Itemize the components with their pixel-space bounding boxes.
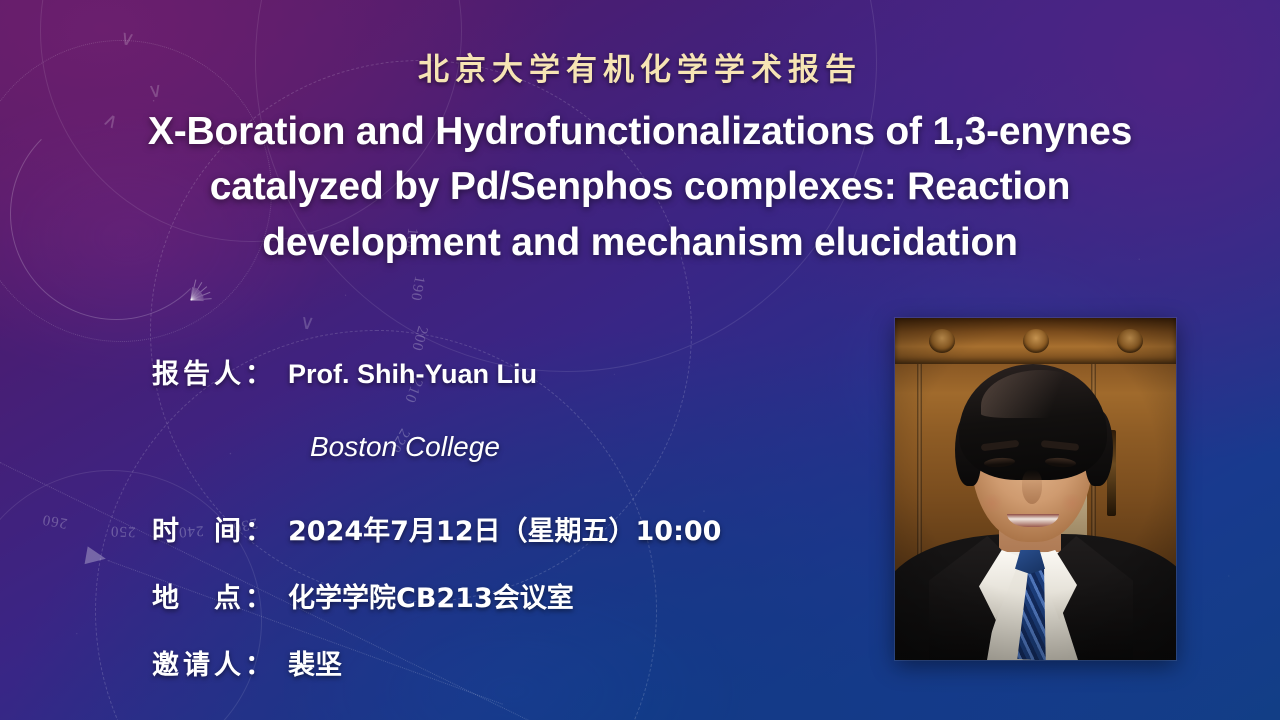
- time-value: 2024年7月12日（星期五）10:00: [288, 509, 721, 548]
- time-row: 时 间： 2024年7月12日（星期五）10:00: [152, 509, 872, 548]
- details-block: 报告人： Prof. Shih-Yuan Liu Boston College …: [152, 352, 872, 682]
- location-value: 化学学院CB213会议室: [288, 576, 574, 615]
- time-label: 时 间：: [152, 509, 276, 548]
- speaker-photo: [895, 318, 1176, 660]
- talk-title-line-3: development and mechanism elucidation: [38, 215, 1242, 270]
- speaker-name: Prof. Shih-Yuan Liu: [288, 359, 537, 390]
- location-label: 地 点：: [152, 576, 276, 615]
- seminar-poster: 180 190 200 210 220 230 240 250 260 ∨ ∨ …: [0, 0, 1280, 720]
- talk-title: X-Boration and Hydrofunctionalizations o…: [38, 104, 1242, 270]
- talk-title-line-2: catalyzed by Pd/Senphos complexes: React…: [38, 159, 1242, 214]
- location-row: 地 点： 化学学院CB213会议室: [152, 576, 872, 615]
- speaker-row: 报告人： Prof. Shih-Yuan Liu: [152, 352, 872, 391]
- host-value: 裴坚: [288, 643, 342, 682]
- photo-vignette: [895, 318, 1176, 660]
- talk-title-line-1: X-Boration and Hydrofunctionalizations o…: [38, 104, 1242, 159]
- organization-title: 北京大学有机化学学术报告: [0, 44, 1280, 89]
- speaker-label: 报告人：: [152, 352, 276, 391]
- speaker-affiliation: Boston College: [310, 431, 872, 463]
- host-row: 邀请人： 裴坚: [152, 643, 872, 682]
- host-label: 邀请人：: [152, 643, 276, 682]
